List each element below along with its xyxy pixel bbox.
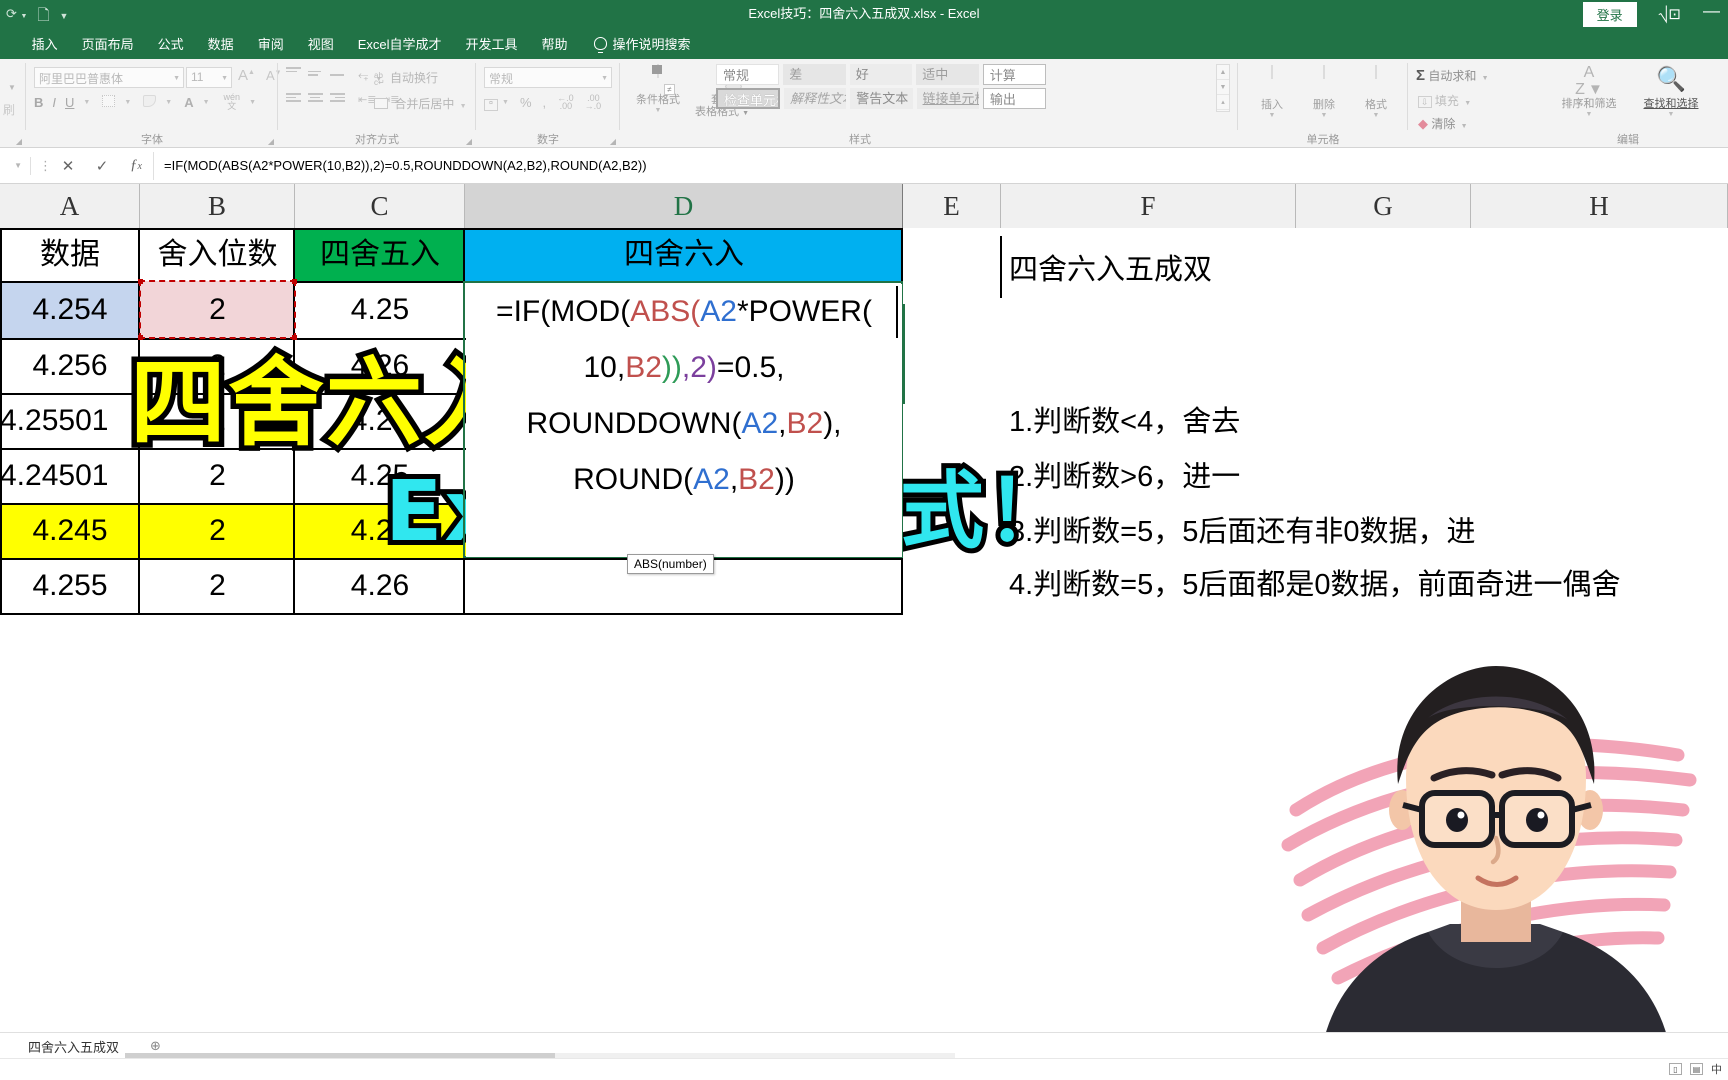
column-header-E[interactable]: E: [903, 184, 1001, 228]
underline-dropdown-icon[interactable]: ▼: [83, 99, 90, 106]
ribbon-display-options-icon[interactable]: ⎷⊡: [1659, 5, 1681, 23]
font-group-label: 字体: [26, 131, 278, 147]
number-group-label: 数字: [476, 131, 620, 147]
editing-group-label: 编辑: [1538, 131, 1718, 147]
tell-me-label: 操作说明搜索: [613, 34, 691, 53]
align-middle-icon[interactable]: [308, 67, 323, 79]
cell-style-check-cell[interactable]: 检查单元格: [716, 88, 780, 109]
column-header-G[interactable]: G: [1296, 184, 1471, 228]
scroll-up-icon[interactable]: ▲: [1217, 65, 1229, 80]
number-format-select[interactable]: 常规▼: [484, 67, 612, 88]
cell-C6[interactable]: 4.25: [295, 503, 465, 558]
merge-center-button[interactable]: 合并后居中 ▼: [374, 95, 467, 112]
title-bar: ⟳ ▼ 🗋 ▼ Excel技巧：四舍六入五成双.xlsx - Excel 登录 …: [0, 0, 1728, 28]
accounting-dropdown-icon[interactable]: ▼: [502, 99, 509, 106]
formula-line-3: ROUNDDOWN(A2,B2),: [466, 396, 902, 452]
styles-group-label: 样式: [620, 131, 1100, 147]
cell-B7[interactable]: 2: [140, 558, 295, 613]
cell-A7[interactable]: 4.255: [0, 558, 140, 613]
formula-input[interactable]: =IF(MOD(ABS(A2*POWER(10,B2)),2)=0.5,ROUN…: [154, 158, 1728, 173]
cell-C3[interactable]: 4.26: [295, 338, 465, 393]
chevron-down-icon[interactable]: ▼: [8, 83, 16, 92]
cell-style-linked-cell[interactable]: 链接单元格: [917, 88, 979, 109]
tab-help[interactable]: 帮助: [530, 29, 580, 58]
cell-style-neutral[interactable]: 适中: [916, 64, 978, 85]
cell-C5[interactable]: 4.25: [295, 448, 465, 503]
format-cells-button[interactable]: 格式 ▼: [1352, 66, 1400, 119]
ribbon-group-number: 常规▼ ¤ ▼ % , ←.0 .00 .00→.0 数字 ◢: [476, 59, 620, 148]
autosum-button[interactable]: Σ 自动求和 ▼: [1416, 67, 1489, 84]
align-center-icon[interactable]: [308, 93, 323, 105]
phonetic-guide-icon[interactable]: wén文: [224, 93, 241, 111]
wrap-text-button[interactable]: abc↵ 自动换行: [374, 69, 438, 86]
cell-A3[interactable]: 4.256: [0, 338, 140, 393]
column-header-H[interactable]: H: [1471, 184, 1728, 228]
cell-A4[interactable]: 4.25501: [0, 393, 140, 448]
cells-group-label: 单元格: [1238, 131, 1408, 147]
cell-styles-scrollbar[interactable]: ▲ ▼ ▴: [1216, 64, 1230, 112]
column-headers: A B C D E F G H: [0, 184, 1728, 228]
ribbon-group-editing: Σ 自动求和 ▼ ⇩ 填充 ▼ ◆ 清除 ▼ AZ ▼ 排序和筛选 ▼: [1408, 59, 1728, 148]
cell-styles-gallery: 常规 差 好 适中 计算 检查单元格 解释性文本 警告文本 链接单元格 输出: [716, 64, 1046, 112]
tell-me-search[interactable]: 操作说明搜索: [594, 34, 691, 53]
ime-indicator[interactable]: 中: [1711, 1061, 1722, 1077]
tab-review[interactable]: 审阅: [246, 29, 296, 58]
cell-style-calculation[interactable]: 计算: [983, 64, 1046, 85]
scroll-down-icon[interactable]: ▼: [1217, 80, 1229, 95]
page-layout-view-icon[interactable]: ▤: [1690, 1063, 1703, 1075]
fill-color-icon[interactable]: [143, 95, 156, 110]
fill-down-icon: ⇩: [1418, 96, 1432, 108]
decrease-indent-icon[interactable]: ⇤≣: [358, 93, 374, 105]
normal-view-icon[interactable]: ▯: [1669, 1063, 1682, 1075]
tab-data[interactable]: 数据: [196, 29, 246, 58]
cell-A5[interactable]: 4.24501: [0, 448, 140, 503]
format-painter-icon[interactable]: 刷: [3, 101, 15, 118]
cell-B6[interactable]: 2: [140, 503, 295, 558]
ribbon: ▼ 刷 ◢ 阿里巴巴普惠体▼ 11▼ A▲ A▼ B I U ▼ ▼ ▼: [0, 59, 1728, 148]
add-sheet-icon[interactable]: ⊕: [150, 1038, 161, 1054]
cell-B3[interactable]: 2: [140, 338, 295, 393]
cell-B2[interactable]: 2: [140, 281, 295, 338]
column-header-F[interactable]: F: [1001, 184, 1296, 228]
note-line-2[interactable]: 2.判断数>6，进一: [1009, 453, 1240, 495]
formula-line-4: ROUND(A2,B2)): [466, 452, 902, 508]
ribbon-group-styles: ≠ 条件格式 ▼ 套用表格格式 ▼ 常规 差 好 适中 计算 检查单元格 解释性…: [620, 59, 1238, 148]
cell-A1[interactable]: 数据: [0, 228, 140, 281]
font-size-input[interactable]: 11▼: [186, 67, 232, 88]
fill-button[interactable]: ⇩ 填充 ▼: [1418, 92, 1471, 109]
ribbon-group-cells: 插入 ▼ 删除 ▼ 格式 ▼ 单元格: [1238, 59, 1408, 148]
italic-button[interactable]: I: [52, 95, 56, 110]
search-icon: 🔍: [1632, 65, 1710, 95]
increase-decimal-icon[interactable]: .00→.0: [585, 94, 602, 110]
comma-style-button[interactable]: ,: [543, 95, 547, 110]
borders-dropdown-icon[interactable]: ▼: [124, 99, 131, 106]
cell-style-explanatory-text[interactable]: 解释性文本: [784, 88, 846, 109]
cancel-icon[interactable]: ✕: [51, 157, 85, 175]
excel-window: ⟳ ▼ 🗋 ▼ Excel技巧：四舍六入五成双.xlsx - Excel 登录 …: [0, 0, 1728, 1080]
sigma-icon: Σ: [1416, 67, 1425, 84]
align-right-icon[interactable]: [330, 93, 345, 105]
formula-line-2: 10,B2)),2)=0.5,: [466, 340, 902, 396]
minimize-icon[interactable]: —: [1703, 1, 1720, 27]
font-name-input[interactable]: 阿里巴巴普惠体▼: [34, 67, 184, 88]
sheet-tab-active[interactable]: 四舍六入五成双: [22, 1037, 125, 1060]
merge-cells-icon: [374, 98, 388, 109]
formula-bar-grip[interactable]: ⋮: [39, 158, 51, 174]
tab-view[interactable]: 视图: [296, 29, 346, 58]
alignment-dialog-launcher[interactable]: ◢: [466, 137, 472, 146]
find-select-button[interactable]: 🔍 查找和选择 ▼: [1632, 65, 1710, 118]
clear-button[interactable]: ◆ 清除 ▼: [1418, 115, 1468, 132]
tab-insert[interactable]: 插入: [20, 29, 70, 58]
cell-B1[interactable]: 舍入位数: [140, 228, 295, 281]
titlebar-right-controls: 登录 ⎷⊡ —: [1583, 0, 1720, 28]
formula-bar: ▼ ⋮ ✕ ✓ ƒx =IF(MOD(ABS(A2*POWER(10,B2)),…: [0, 148, 1728, 184]
presenter-avatar: [1278, 660, 1708, 1080]
font-color-dropdown-icon[interactable]: ▼: [203, 99, 210, 106]
clipboard-dialog-launcher[interactable]: ◢: [16, 137, 22, 146]
ribbon-group-alignment: ⥆ ▼ ⇤≣ ⇥≣ abc↵ 自动换行 合并后居中 ▼ 对齐方式 ◢: [278, 59, 476, 148]
align-top-icon[interactable]: [286, 67, 301, 79]
notes-title[interactable]: 四舍六入五成双: [1009, 246, 1212, 288]
cell-D1[interactable]: 四舍六入: [465, 228, 903, 281]
font-dialog-launcher[interactable]: ◢: [268, 137, 274, 146]
insert-cells-button[interactable]: 插入 ▼: [1248, 66, 1296, 119]
tab-formulas[interactable]: 公式: [146, 29, 196, 58]
bold-button[interactable]: B: [34, 95, 43, 110]
sheet-tab-bar: 四舍六入五成双 ⊕: [0, 1032, 1728, 1058]
cell-style-warning-text[interactable]: 警告文本: [850, 88, 912, 109]
percent-style-button[interactable]: %: [520, 95, 532, 110]
increase-font-size-icon[interactable]: A▲: [238, 67, 255, 84]
ribbon-group-font: 阿里巴巴普惠体▼ 11▼ A▲ A▼ B I U ▼ ▼ ▼ A ▼ wén文 …: [26, 59, 278, 148]
delete-cells-button[interactable]: 删除 ▼: [1300, 66, 1348, 119]
filter-icon: ▼: [1588, 81, 1603, 98]
tab-home-partial[interactable]: [4, 31, 20, 56]
cell-A2[interactable]: 4.254: [0, 281, 140, 338]
confirm-icon[interactable]: ✓: [85, 157, 119, 175]
cell-style-good[interactable]: 好: [850, 64, 912, 85]
fill-color-dropdown-icon[interactable]: ▼: [165, 99, 172, 106]
signin-button[interactable]: 登录: [1583, 2, 1637, 27]
formula-line-1: =IF(MOD(ABS(A2*POWER(: [466, 284, 902, 340]
underline-button[interactable]: U: [65, 95, 74, 110]
cell-B5[interactable]: 2: [140, 448, 295, 503]
ribbon-group-clipboard: ▼ 刷 ◢: [0, 59, 26, 148]
column-header-C[interactable]: C: [295, 184, 465, 228]
column-header-A[interactable]: A: [0, 184, 140, 228]
document-title: Excel技巧：四舍六入五成双.xlsx - Excel: [0, 0, 1728, 28]
scroll-more-icon[interactable]: ▴: [1217, 95, 1229, 110]
cell-D2-editing[interactable]: =IF(MOD(ABS(A2*POWER( 10,B2)),2)=0.5, RO…: [466, 284, 902, 557]
tab-page-layout[interactable]: 页面布局: [70, 29, 146, 58]
cell-style-normal[interactable]: 常规: [716, 64, 779, 85]
accounting-format-icon[interactable]: ¤: [484, 93, 498, 111]
ribbon-tabs: 插入 页面布局 公式 数据 审阅 视图 Excel自学成才 开发工具 帮助 操作…: [0, 28, 1728, 59]
lightbulb-icon: [594, 37, 607, 50]
cell-style-bad[interactable]: 差: [783, 64, 845, 85]
font-color-icon[interactable]: A: [184, 95, 193, 110]
align-left-icon[interactable]: [286, 93, 301, 105]
cell-B4[interactable]: 2: [140, 393, 295, 448]
sort-filter-button[interactable]: AZ ▼ 排序和筛选 ▼: [1550, 65, 1628, 118]
eraser-icon: ◆: [1418, 116, 1428, 131]
cell-C2[interactable]: 4.25: [295, 281, 465, 338]
cell-C1[interactable]: 四舍五入: [295, 228, 465, 281]
note-line-4[interactable]: 4.判断数=5，5后面都是0数据，前面奇进一偶舍: [1009, 561, 1621, 603]
decrease-decimal-icon[interactable]: ←.0 .00: [557, 94, 574, 110]
note-line-3[interactable]: 3.判断数=5，5后面还有非0数据，进: [1009, 508, 1476, 550]
note-line-1[interactable]: 1.判断数<4，舍去: [1009, 398, 1240, 440]
column-header-D[interactable]: D: [465, 184, 903, 228]
borders-icon[interactable]: [102, 95, 115, 110]
alignment-group-label: 对齐方式: [278, 131, 476, 147]
cell-C7[interactable]: 4.26: [295, 558, 465, 613]
tab-excel-self-study[interactable]: Excel自学成才: [346, 29, 454, 58]
status-bar: ▯ ▤ 中: [0, 1058, 1728, 1080]
cell-style-output[interactable]: 输出: [983, 88, 1046, 109]
conditional-formatting-button[interactable]: ≠ 条件格式 ▼: [630, 65, 686, 115]
insert-function-icon[interactable]: ƒx: [119, 157, 153, 174]
phonetic-dropdown-icon[interactable]: ▼: [249, 99, 256, 106]
number-dialog-launcher[interactable]: ◢: [610, 137, 616, 146]
align-bottom-icon[interactable]: [330, 67, 345, 79]
wrap-text-icon: abc↵: [374, 72, 385, 86]
status-bar-right: ▯ ▤ 中: [1669, 1061, 1722, 1077]
name-box[interactable]: ▼: [0, 161, 22, 170]
cell-A6[interactable]: 4.245: [0, 503, 140, 558]
tab-developer[interactable]: 开发工具: [454, 29, 530, 58]
text-orientation-icon[interactable]: ⥆: [358, 67, 368, 83]
column-header-B[interactable]: B: [140, 184, 295, 228]
function-tooltip: ABS(number): [627, 554, 714, 574]
cell-C4[interactable]: 4.26: [295, 393, 465, 448]
